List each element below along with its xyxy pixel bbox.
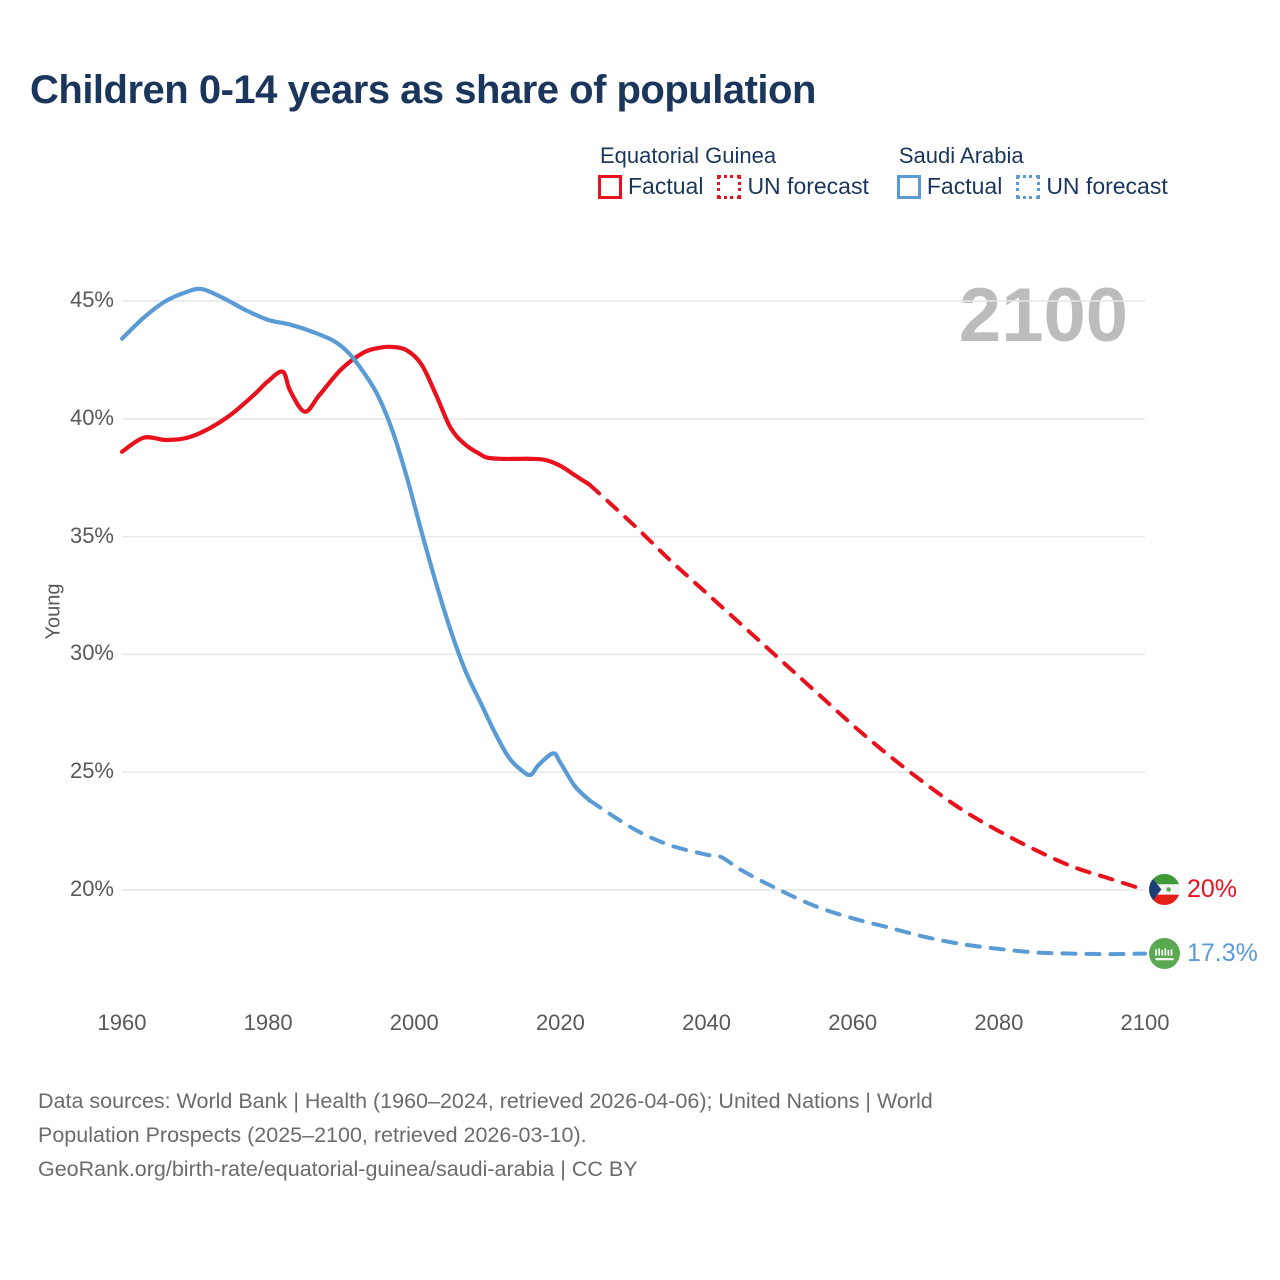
x-tick-label: 2020 [515, 1010, 605, 1036]
y-tick-label: 20% [42, 876, 114, 902]
series-lines [122, 289, 1145, 954]
line-saudi-arabia-factual [122, 289, 590, 801]
legend-swatch-solid-icon [897, 175, 921, 199]
line-saudi-arabia-forecast [590, 800, 1145, 954]
legend-country-label: Saudi Arabia [897, 143, 1168, 169]
x-tick-label: 2080 [954, 1010, 1044, 1036]
end-value-label: 17.3% [1187, 939, 1258, 968]
end-label-equatorial-guinea: 20% [1149, 874, 1237, 905]
chart-legend: Equatorial Guinea Factual UN forecast Sa… [598, 143, 1168, 200]
x-tick-label: 2040 [662, 1010, 752, 1036]
x-tick-label: 2100 [1100, 1010, 1190, 1036]
footer-line-2: Population Prospects (2025–2100, retriev… [38, 1118, 1218, 1152]
end-label-saudi-arabia: 17.3% [1149, 938, 1258, 969]
y-tick-label: 45% [42, 287, 114, 313]
legend-item-sa-forecast[interactable]: UN forecast [1016, 173, 1167, 200]
x-tick-label: 1960 [77, 1010, 167, 1036]
gridlines [122, 301, 1145, 890]
equatorial-guinea-flag-icon [1149, 874, 1180, 905]
line-equatorial-guinea-forecast [590, 485, 1145, 890]
legend-item-sa-factual[interactable]: Factual [897, 173, 1002, 200]
chart-page: Children 0-14 years as share of populati… [0, 0, 1280, 1280]
legend-group-saudi-arabia: Saudi Arabia Factual UN forecast [897, 143, 1168, 200]
footer-line-1: Data sources: World Bank | Health (1960–… [38, 1084, 1218, 1118]
legend-item-eg-forecast[interactable]: UN forecast [717, 173, 868, 200]
legend-swatch-dotted-icon [717, 175, 741, 199]
footer-line-3: GeoRank.org/birth-rate/equatorial-guinea… [38, 1152, 1218, 1186]
legend-item-label: UN forecast [747, 173, 868, 200]
legend-item-label: Factual [628, 173, 703, 200]
y-tick-label: 35% [42, 523, 114, 549]
page-title: Children 0-14 years as share of populati… [30, 68, 816, 113]
footer-sources: Data sources: World Bank | Health (1960–… [38, 1084, 1218, 1186]
y-tick-label: 25% [42, 758, 114, 784]
x-tick-label: 2000 [369, 1010, 459, 1036]
watermark-year: 2100 [959, 272, 1128, 359]
legend-swatch-solid-icon [598, 175, 622, 199]
legend-group-equatorial-guinea: Equatorial Guinea Factual UN forecast [598, 143, 869, 200]
legend-item-label: UN forecast [1046, 173, 1167, 200]
y-tick-label: 40% [42, 405, 114, 431]
legend-item-eg-factual[interactable]: Factual [598, 173, 703, 200]
end-value-label: 20% [1187, 875, 1237, 904]
x-tick-label: 1980 [223, 1010, 313, 1036]
legend-country-label: Equatorial Guinea [598, 143, 869, 169]
saudi-arabia-flag-icon [1149, 938, 1180, 969]
y-tick-label: 30% [42, 640, 114, 666]
x-tick-label: 2060 [808, 1010, 898, 1036]
line-equatorial-guinea-factual [122, 347, 590, 485]
legend-item-label: Factual [927, 173, 1002, 200]
legend-swatch-dotted-icon [1016, 175, 1040, 199]
